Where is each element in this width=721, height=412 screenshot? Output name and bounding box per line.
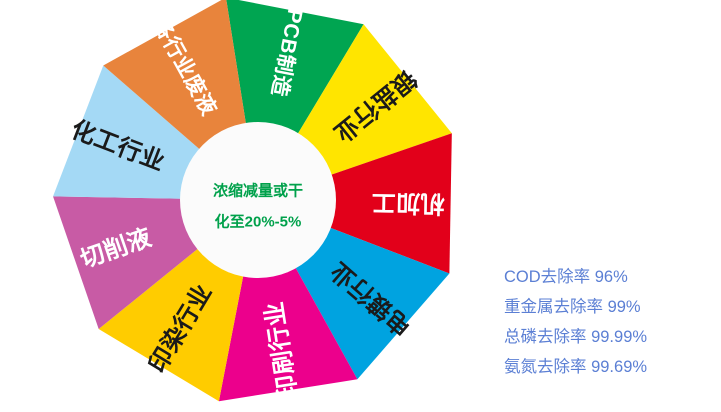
infographic-stage: PCB制造银盐行业机加工电镀行业印刷行业印染行业切削液化工行业各行业废液 浓缩减… (0, 0, 721, 412)
center-text-line-1: 浓缩减量或干 (213, 182, 303, 200)
stat-line: 氨氮去除率 99.69% (504, 352, 714, 382)
stat-line: COD去除率 96% (504, 262, 714, 292)
center-circle (180, 122, 336, 278)
removal-rate-stats: COD去除率 96% 重金属去除率 99% 总磷去除率 99.99% 氨氮去除率… (504, 262, 714, 382)
industry-wheel: PCB制造银盐行业机加工电镀行业印刷行业印染行业切削液化工行业各行业废液 浓缩减… (0, 0, 480, 412)
wheel-segment-label: 机加工 (371, 188, 445, 216)
center-text-line-2: 化至20%-5% (215, 213, 302, 231)
stat-line: 总磷去除率 99.99% (504, 322, 714, 352)
stat-line: 重金属去除率 99% (504, 292, 714, 322)
